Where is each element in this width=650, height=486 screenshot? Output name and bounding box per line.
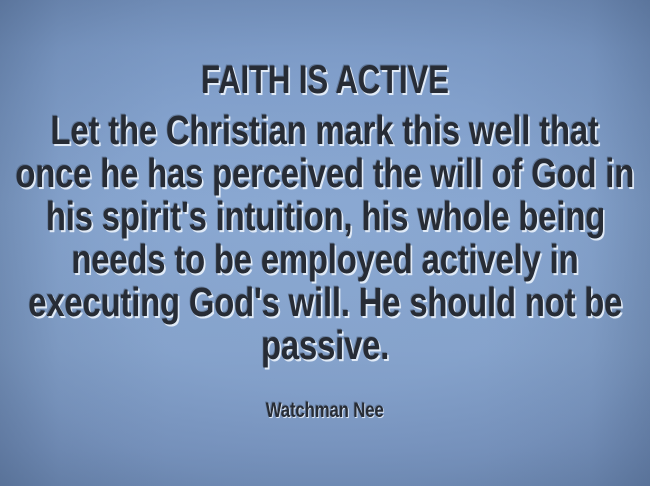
quote-line: needs to be employed actively in — [71, 238, 578, 281]
quote-attribution: Watchman Nee — [266, 400, 384, 421]
quote-body: Let the Christian mark this well that on… — [0, 109, 650, 367]
quote-content: FAITH IS ACTIVE Let the Christian mark t… — [0, 0, 650, 486]
quote-line: executing God's will. He should not be — [28, 281, 622, 324]
quote-title: FAITH IS ACTIVE — [201, 60, 449, 100]
quote-line: passive. — [261, 324, 389, 367]
quote-line: once he has perceived the will of God in — [16, 152, 635, 195]
quote-line: Let the Christian mark this well that — [51, 109, 599, 152]
quote-card: FAITH IS ACTIVE Let the Christian mark t… — [0, 0, 650, 486]
quote-line: his spirit's intuition, his whole being — [45, 195, 604, 238]
